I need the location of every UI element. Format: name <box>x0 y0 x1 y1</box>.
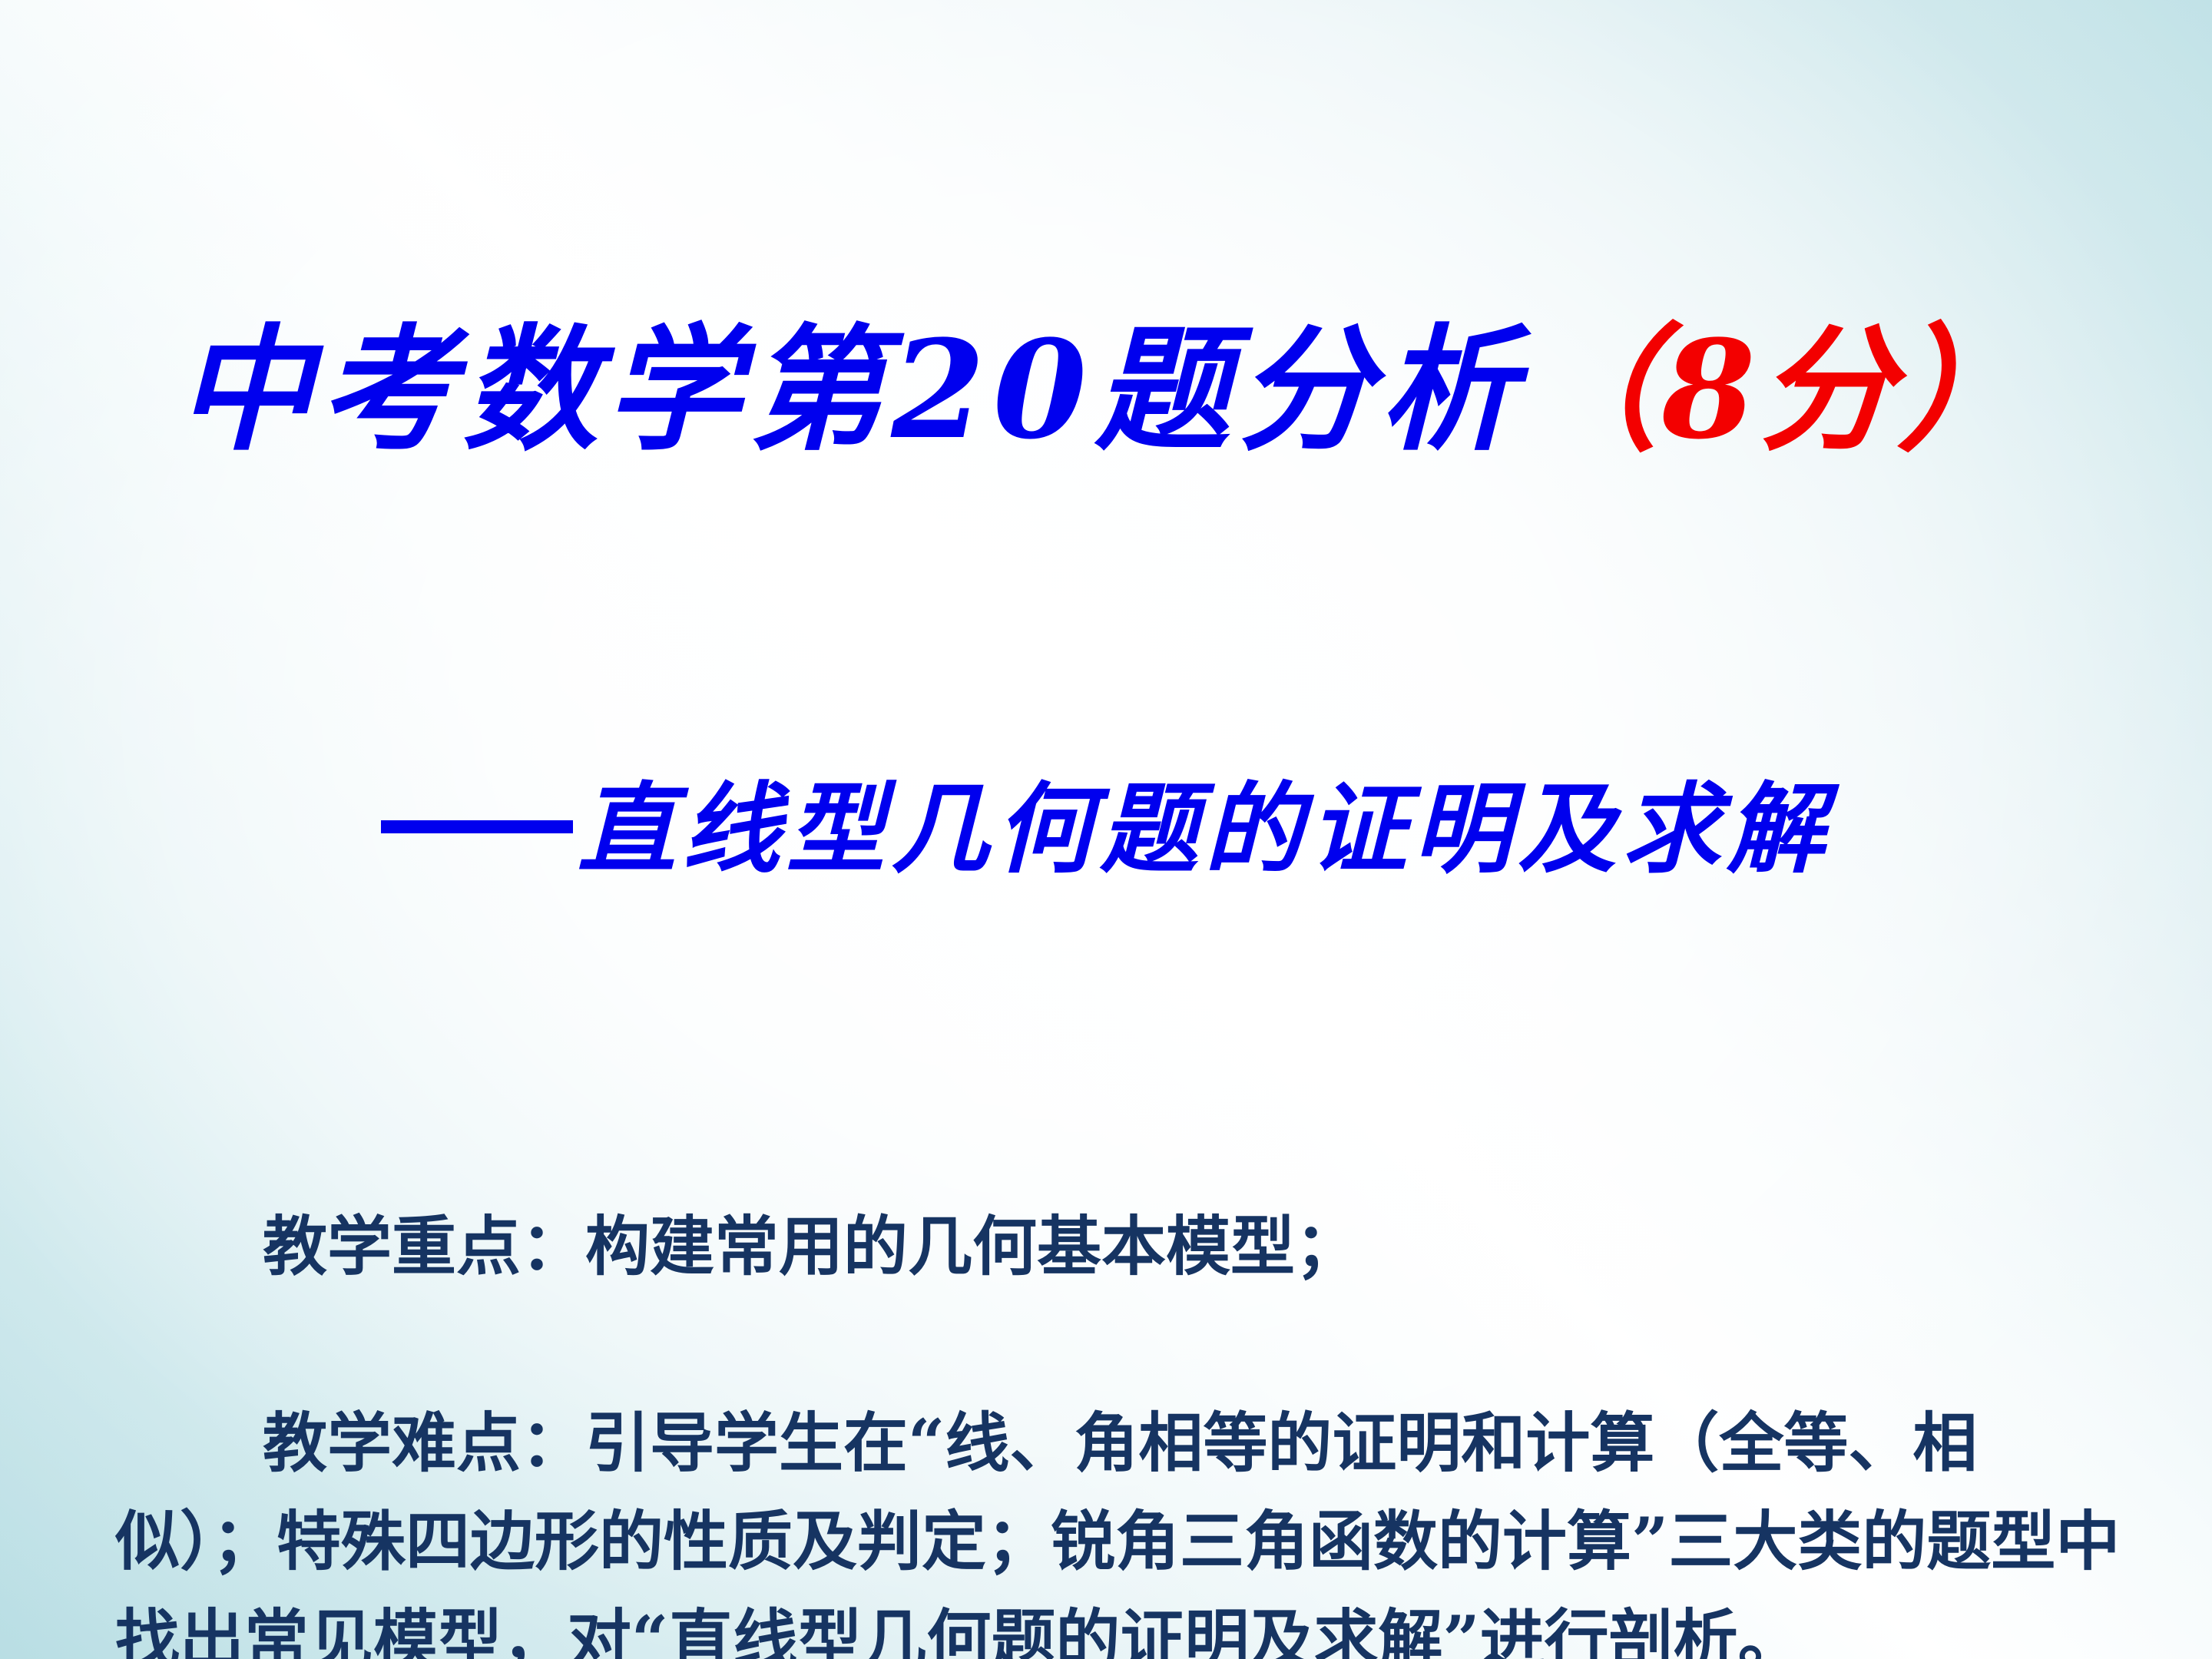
slide-subtitle: 直线型几何题的证明及求解 <box>0 780 2212 879</box>
slide-body: 教学重点：构建常用的几何基本模型； 教学难点：引导学生在“线、角相等的证明和计算… <box>115 1197 2128 1659</box>
teaching-focus-paragraph: 教学重点：构建常用的几何基本模型； <box>115 1197 2128 1296</box>
em-dash-rule <box>381 820 573 833</box>
teaching-difficulty-paragraph: 教学难点：引导学生在“线、角相等的证明和计算（全等、相似）；特殊四边形的性质及判… <box>115 1394 2128 1659</box>
subtitle-text: 直线型几何题的证明及求解 <box>578 772 1831 887</box>
slide-title: 中考数学第20题分析（8分） <box>0 323 2212 458</box>
presentation-slide: 中考数学第20题分析（8分） 直线型几何题的证明及求解 教学重点：构建常用的几何… <box>0 0 2212 1659</box>
title-main-text: 中考数学第20题分析 <box>177 310 1523 469</box>
title-score-text: （8分） <box>1523 310 2035 469</box>
